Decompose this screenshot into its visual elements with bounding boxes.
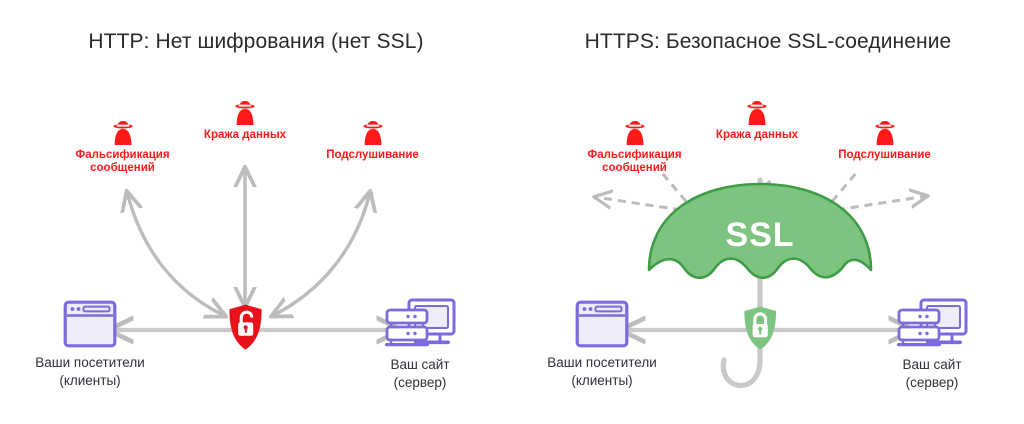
- http-threat-arrow-left: [127, 192, 225, 316]
- panel-http: HTTP: Нет шифрования (нет SSL): [0, 0, 512, 424]
- https-deflect-arrow-center: [755, 183, 769, 235]
- threat-label-forgery: Фальсификация сообщений: [567, 120, 702, 175]
- endpoint-client-https: Ваши посетители (клиенты): [522, 300, 682, 390]
- hacker-icon: [112, 120, 134, 146]
- threat-label-eavesdropping: Подслушивание: [817, 120, 952, 162]
- https-incoming-dash-left: [662, 173, 695, 212]
- threat-label-line1: Фальсификация: [75, 149, 169, 161]
- https-incoming-dash-right: [823, 172, 857, 212]
- panel-https-title: HTTPS: Безопасное SSL-соединение: [512, 30, 1024, 54]
- umbrella-icon: SSL: [649, 180, 871, 385]
- endpoint-client-sub: (клиенты): [10, 372, 170, 390]
- endpoint-client-sub: (клиенты): [522, 372, 682, 390]
- https-deflect-arrow-right: [823, 196, 927, 212]
- browser-window-icon: [575, 300, 629, 348]
- endpoint-client-http: Ваши посетители (клиенты): [10, 300, 170, 390]
- threat-label-line1: Подслушивание: [326, 149, 419, 161]
- endpoint-client-label: Ваши посетители: [10, 354, 170, 372]
- https-incoming-dash-center: [750, 191, 755, 235]
- endpoint-server-https: Ваш сайт (сервер): [852, 298, 1012, 392]
- threat-label-line1: Фальсификация: [587, 149, 681, 161]
- endpoint-server-label: Ваш сайт: [340, 356, 500, 374]
- hacker-icon: [746, 100, 768, 126]
- threat-label-line1: Кража данных: [716, 129, 798, 141]
- umbrella-ssl-label: SSL: [725, 216, 794, 254]
- threat-label-forgery: Фальсификация сообщений: [55, 120, 190, 175]
- panel-https: HTTPS: Безопасное SSL-соединение: [512, 0, 1024, 424]
- threat-label-line2: сообщений: [90, 162, 155, 174]
- endpoint-server-label: Ваш сайт: [852, 356, 1012, 374]
- endpoint-server-sub: (сервер): [852, 374, 1012, 392]
- server-monitor-icon: [894, 298, 970, 350]
- threat-label-line2: сообщений: [602, 162, 667, 174]
- endpoint-server-http: Ваш сайт (сервер): [340, 298, 500, 392]
- panel-http-title: HTTP: Нет шифрования (нет SSL): [0, 30, 512, 54]
- server-monitor-icon: [382, 298, 458, 350]
- diagram-canvas: HTTP: Нет шифрования (нет SSL): [0, 0, 1024, 424]
- threat-label-line1: Подслушивание: [838, 149, 931, 161]
- hacker-icon: [874, 120, 896, 146]
- threat-label-data-theft: Кража данных: [185, 100, 305, 142]
- shield-locked-icon: [744, 307, 776, 350]
- hacker-icon: [362, 120, 384, 146]
- threat-label-line1: Кража данных: [204, 129, 286, 141]
- threat-label-data-theft: Кража данных: [697, 100, 817, 142]
- https-deflect-arrow-left: [595, 197, 695, 212]
- threat-label-eavesdropping: Подслушивание: [305, 120, 440, 162]
- endpoint-server-sub: (сервер): [340, 374, 500, 392]
- endpoint-client-label: Ваши посетители: [522, 354, 682, 372]
- browser-window-icon: [63, 300, 117, 348]
- shield-unlocked-icon: [229, 305, 261, 350]
- hacker-icon: [624, 120, 646, 146]
- hacker-icon: [234, 100, 256, 126]
